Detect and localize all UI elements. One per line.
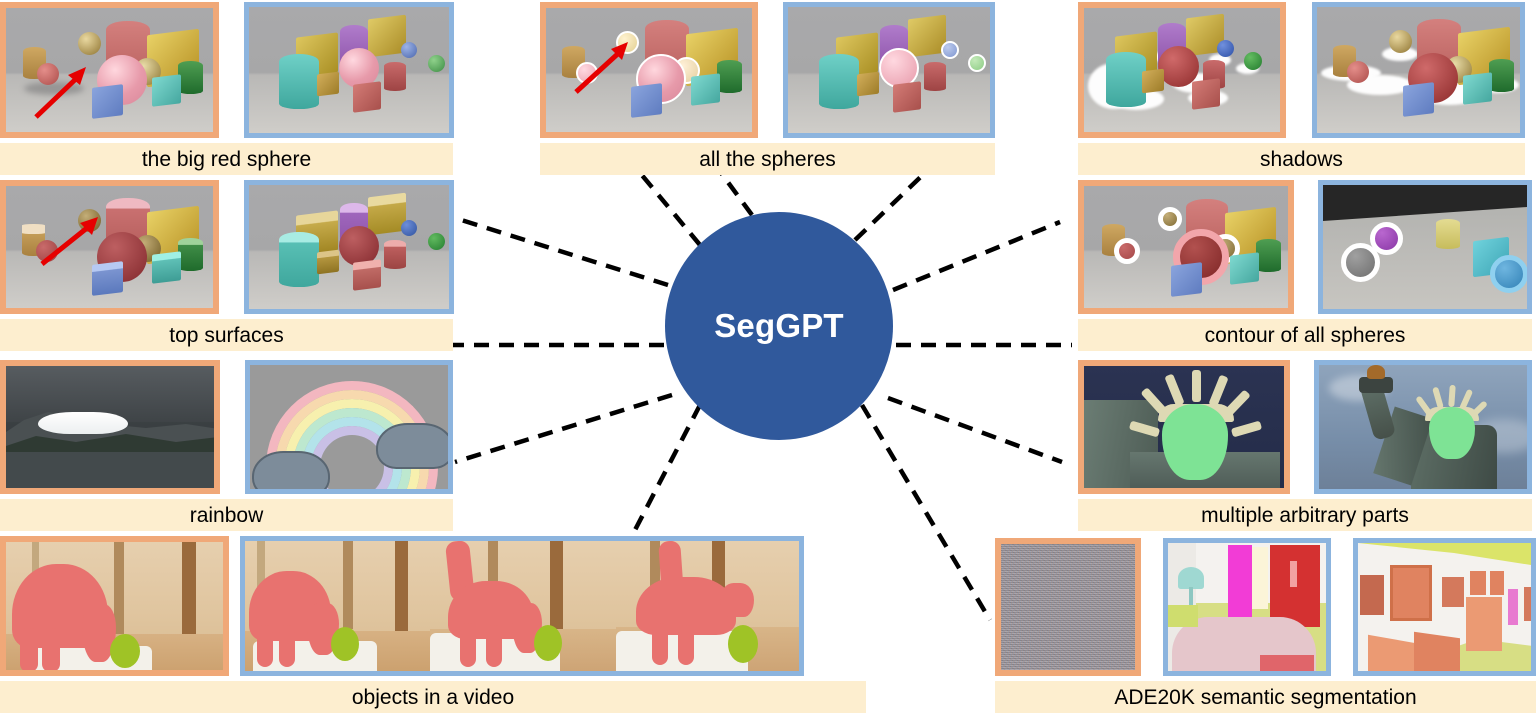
clevr-scene: [1084, 186, 1288, 308]
painting-region: [1508, 589, 1518, 625]
face-mask: [1162, 404, 1228, 480]
crown-spike: [1164, 373, 1184, 406]
image-strip: [0, 2, 454, 138]
cat-mask: [678, 625, 694, 665]
ade20k-gallery: [1358, 543, 1531, 671]
caption-text: shadows: [1260, 149, 1343, 170]
painting-region: [1442, 577, 1464, 607]
contour-ring: [1341, 243, 1380, 282]
image-strip: [0, 536, 804, 676]
link-to-parts-lower: [888, 398, 1062, 462]
result-frame-2[interactable]: [430, 536, 616, 676]
painting-region: [1390, 565, 1432, 621]
result-image[interactable]: [783, 2, 995, 138]
green-region: [1168, 605, 1198, 627]
clevr-scene: [6, 8, 213, 132]
result-frame-1[interactable]: [240, 536, 430, 676]
contour-ring: [1114, 238, 1140, 264]
cat-mask: [279, 625, 295, 667]
clevr-scene: [6, 186, 213, 308]
statue-closeup: [1084, 366, 1284, 488]
teal-cube: [152, 74, 181, 107]
image-strip: [1078, 180, 1532, 314]
painting-region: [1414, 632, 1460, 676]
image-strip: [0, 360, 453, 494]
ceiling-region: [1358, 543, 1531, 565]
ball-object: [728, 625, 758, 663]
image-strip: [1078, 360, 1532, 494]
result-frame-2[interactable]: [1353, 538, 1536, 676]
masked-sphere: [968, 54, 986, 72]
painting-region: [1360, 575, 1384, 615]
cat-mask: [720, 583, 754, 617]
example-caption: all the spheres: [540, 143, 995, 175]
caption-text: contour of all spheres: [1205, 325, 1406, 346]
prompt-image[interactable]: [0, 360, 220, 494]
ball-object: [331, 627, 359, 661]
clevr-scene-result: [249, 185, 449, 309]
result-frame-1[interactable]: [1163, 538, 1331, 676]
image-strip: [1078, 2, 1525, 138]
link-to-ade20k: [862, 405, 990, 620]
link-to-objects-video: [635, 405, 700, 530]
link-to-shadows: [855, 168, 930, 240]
cube-with-top-mask: [152, 251, 181, 284]
clevr-scene-result: [788, 7, 990, 133]
cylinder-with-top-mask: [178, 238, 203, 271]
figure-canvas: SegGPT: [0, 0, 1538, 721]
link-to-contour: [893, 222, 1060, 290]
clevr-scene-result: [249, 7, 449, 133]
cat-mask: [486, 625, 502, 667]
curtain-region: [1228, 545, 1252, 619]
cloud-left: [252, 451, 330, 494]
painting-region: [1524, 587, 1536, 621]
red-arrow-annotation: [570, 36, 640, 98]
image-strip: [995, 538, 1536, 676]
result-image[interactable]: [245, 360, 453, 494]
hub-node-seggpt[interactable]: SegGPT: [665, 212, 893, 440]
rainbow-illustration: [250, 365, 448, 489]
caption-text: objects in a video: [352, 687, 514, 708]
window-region: [1252, 547, 1268, 609]
image-strip: [0, 180, 454, 314]
caption-text: multiple arbitrary parts: [1201, 505, 1409, 526]
prompt-image[interactable]: [1078, 2, 1286, 138]
example-caption: top surfaces: [0, 319, 453, 351]
result-image[interactable]: [244, 180, 454, 314]
prompt-image[interactable]: [0, 2, 219, 138]
example-caption: ADE20K semantic segmentation: [995, 681, 1536, 713]
crown-spike: [1231, 421, 1262, 438]
result-image[interactable]: [1314, 360, 1532, 494]
cube-with-top-mask: [317, 250, 339, 275]
prompt-image[interactable]: [0, 536, 229, 676]
prompt-image[interactable]: [995, 538, 1141, 676]
door-handle-region: [1290, 561, 1297, 587]
result-frame-3[interactable]: [616, 536, 804, 676]
clevr-scene: [546, 8, 752, 132]
mountain-photo: [6, 366, 214, 488]
result-image[interactable]: [1312, 2, 1525, 138]
red-arrow-annotation: [28, 63, 98, 123]
link-to-top-surfaces: [455, 218, 668, 285]
red-arrow-annotation: [36, 212, 111, 272]
cat-mask: [20, 628, 38, 672]
caption-text: top surfaces: [169, 325, 283, 346]
result-image[interactable]: [1318, 180, 1532, 314]
result-image[interactable]: [244, 2, 454, 138]
painting-region: [1490, 571, 1504, 595]
prompt-image[interactable]: [540, 2, 758, 138]
painting-region: [1466, 597, 1502, 651]
example-caption: contour of all spheres: [1078, 319, 1532, 351]
cloud-right: [376, 423, 453, 469]
ade20k-bedroom: [1168, 543, 1326, 671]
cube-with-top-mask: [353, 259, 381, 290]
example-caption: multiple arbitrary parts: [1078, 499, 1532, 531]
clevr-scene-result: [1323, 185, 1527, 309]
cat-frame: [245, 541, 430, 671]
contour-ring: [1490, 255, 1528, 293]
masked-sphere: [941, 41, 959, 59]
painting-region: [1368, 635, 1416, 676]
image-strip: [540, 2, 995, 138]
cat-mask: [460, 623, 476, 667]
green-cylinder: [178, 61, 203, 94]
crown-spike: [1208, 374, 1228, 407]
clevr-scene-result: [1317, 7, 1520, 133]
link-to-rainbow-lower: [455, 395, 672, 462]
hub-label: SegGPT: [714, 307, 844, 345]
crown-spike: [1432, 387, 1444, 410]
noise-image: [1001, 544, 1135, 670]
contour-ring: [1158, 207, 1182, 231]
prompt-image[interactable]: [1078, 180, 1294, 314]
crown-spike: [1192, 370, 1201, 402]
rainbow-mask: [38, 412, 128, 434]
lamp-region: [1178, 567, 1204, 589]
cylinder-with-top-mask: [279, 232, 319, 287]
cat-mask: [42, 628, 60, 672]
cat-mask: [257, 625, 273, 667]
face-mask: [1429, 407, 1475, 459]
caption-text: the big red sphere: [142, 149, 311, 170]
cat-frame: [6, 542, 223, 670]
ball-object: [534, 625, 562, 661]
example-caption: the big red sphere: [0, 143, 453, 175]
cat-frame: [616, 541, 799, 671]
painting-region: [1470, 571, 1486, 595]
rug-region: [1260, 655, 1314, 676]
cylinder-with-top-mask: [384, 240, 406, 269]
statue-sky: [1319, 365, 1527, 489]
example-caption: objects in a video: [0, 681, 866, 713]
example-caption: rainbow: [0, 499, 453, 531]
caption-text: ADE20K semantic segmentation: [1114, 687, 1416, 708]
caption-text: rainbow: [190, 505, 264, 526]
prompt-image[interactable]: [1078, 360, 1290, 494]
cat-frame: [430, 541, 616, 671]
link-to-big-red-sphere: [636, 168, 700, 245]
example-caption: shadows: [1078, 143, 1525, 175]
prompt-image[interactable]: [0, 180, 219, 314]
clevr-scene: [1084, 8, 1280, 132]
ball-object: [110, 634, 140, 668]
crown-spike: [1448, 385, 1456, 407]
gold-sphere: [78, 32, 101, 55]
caption-text: all the spheres: [699, 149, 836, 170]
cat-mask: [652, 623, 668, 665]
